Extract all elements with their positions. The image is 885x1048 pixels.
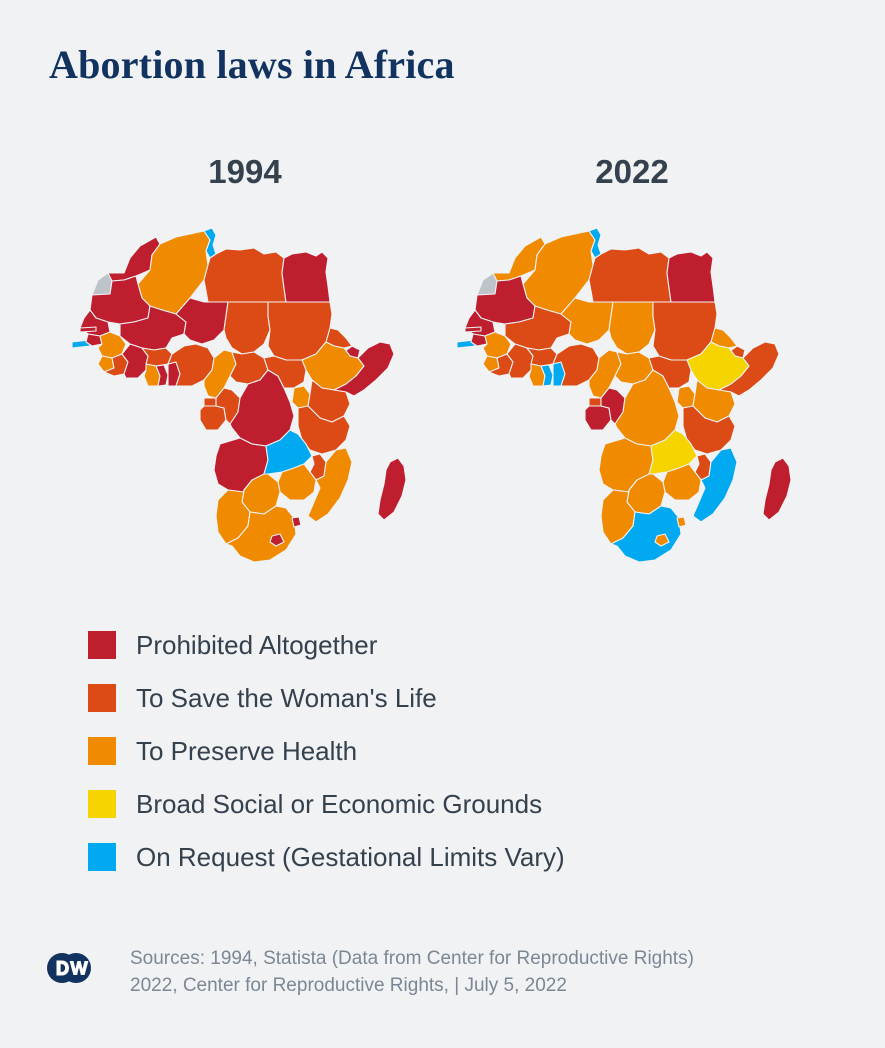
map-svg-1994 [68,218,428,598]
legend-swatch-preserve-health [88,737,116,765]
country-uganda [677,386,695,408]
map-year-label-1994: 1994 [145,153,345,191]
source-line-1: Sources: 1994, Statista (Data from Cente… [130,946,694,973]
country-egypt [282,252,330,302]
footer-sources: Sources: 1994, Statista (Data from Cente… [130,946,694,1000]
country-uganda [292,386,310,408]
country-libya [204,248,286,302]
country-chad [224,302,270,354]
legend-item-on-request: On Request (Gestational Limits Vary) [88,830,565,883]
country-egypt [667,252,715,302]
legend-swatch-save-life [88,684,116,712]
legend-item-prohibited: Prohibited Altogether [88,618,565,671]
legend-item-save-life: To Save the Woman's Life [88,671,565,724]
country-eswatini [292,517,301,527]
legend-label-preserve-health: To Preserve Health [136,738,357,764]
country-chad [609,302,655,354]
country-eswatini [677,517,686,527]
country-gambia [465,327,481,332]
country-madagascar [378,458,406,520]
country-gabon [585,406,611,430]
country-madagascar [763,458,791,520]
legend-label-save-life: To Save the Woman's Life [136,685,437,711]
legend-item-preserve-health: To Preserve Health [88,724,565,777]
legend-swatch-broad-grounds [88,790,116,818]
legend-label-broad-grounds: Broad Social or Economic Grounds [136,791,542,817]
map-countries-2022 [457,228,791,562]
map-svg-2022 [453,218,813,598]
country-libya [589,248,671,302]
dw-logo-icon [46,952,92,989]
footer: Sources: 1994, Statista (Data from Cente… [46,946,694,1000]
map-year-label-2022: 2022 [532,153,732,191]
legend-swatch-prohibited [88,631,116,659]
africa-map-2022 [453,218,813,598]
source-line-2: 2022, Center for Reproductive Rights, | … [130,973,694,1000]
legend: Prohibited Altogether To Save the Woman'… [88,618,565,883]
legend-label-prohibited: Prohibited Altogether [136,632,377,658]
country-equatorial-guinea [204,398,216,406]
africa-map-1994 [68,218,428,598]
country-gabon [200,406,226,430]
page-title: Abortion laws in Africa [49,41,455,88]
country-equatorial-guinea [589,398,601,406]
map-countries-1994 [72,228,406,562]
country-gambia [80,327,96,332]
legend-item-broad-grounds: Broad Social or Economic Grounds [88,777,565,830]
legend-swatch-on-request [88,843,116,871]
infographic-root: Abortion laws in Africa 1994 2022 [0,0,885,1048]
legend-label-on-request: On Request (Gestational Limits Vary) [136,844,565,870]
